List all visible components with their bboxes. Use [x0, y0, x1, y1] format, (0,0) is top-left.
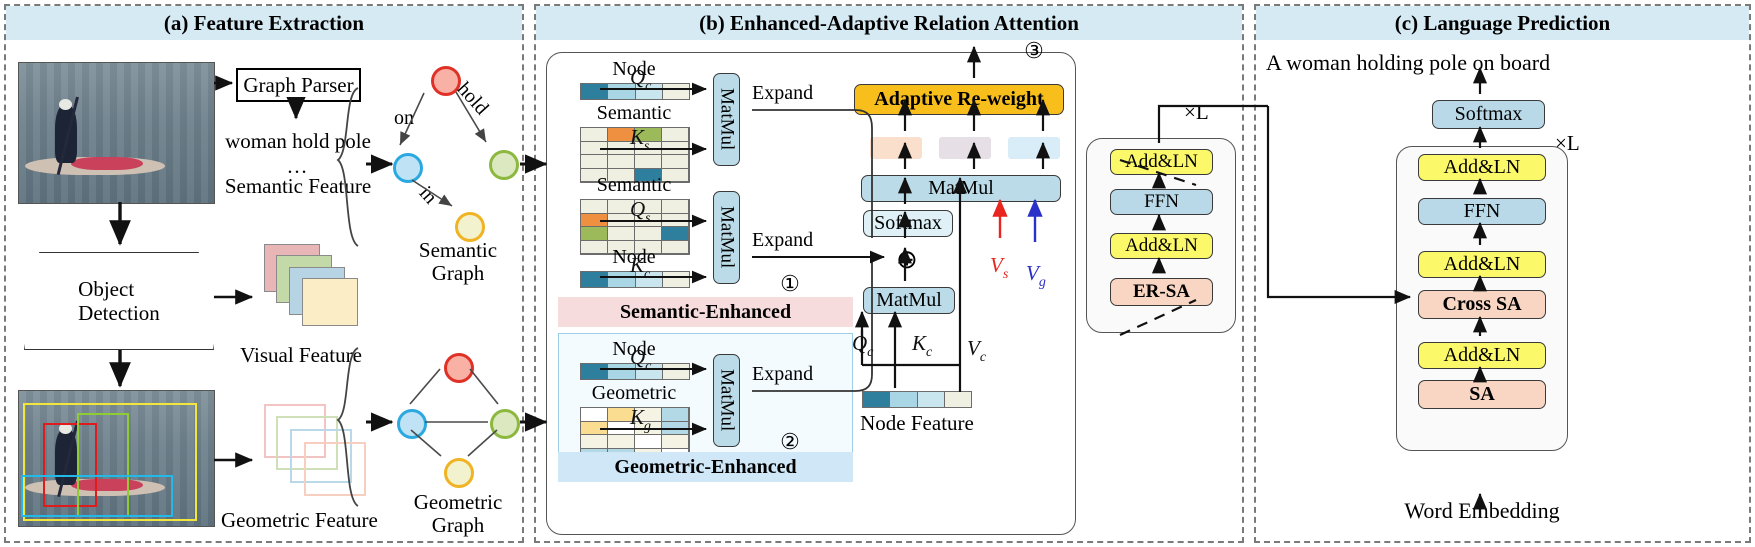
geometric-feature-stack: [264, 404, 382, 504]
geometric-graph-node-green: [490, 409, 520, 439]
graph-parser-label: Graph Parser: [243, 73, 353, 98]
source-image: [18, 62, 215, 204]
matmul-block-3[interactable]: MatMul: [713, 354, 740, 447]
bounding-box-cyan: [21, 475, 173, 517]
plus-operator: ⊕: [896, 245, 918, 275]
visual-feature-card: [302, 278, 358, 326]
graph-parser-box[interactable]: Graph Parser: [236, 68, 361, 102]
node-feature-label: Node Feature: [860, 411, 974, 436]
matmul-block-core[interactable]: MatMul: [863, 287, 955, 314]
parsed-triplet-text: woman hold pole: [225, 129, 371, 154]
paddleboard-deck: [71, 157, 143, 170]
node-label-1: Node: [612, 58, 655, 81]
node-label-2: Node: [612, 246, 655, 269]
geometric-graph-node-yellow: [444, 458, 474, 488]
add-ln-label: Add&LN: [1444, 253, 1521, 276]
object-detection-box[interactable]: Object Detection: [24, 252, 214, 350]
geometric-graph-node-red: [444, 353, 474, 383]
semantic-label-2: Semantic: [597, 174, 671, 197]
geometric-enhanced-label: Geometric-Enhanced: [614, 456, 796, 479]
add-ln-block-b-2[interactable]: Add&LN: [1110, 233, 1213, 259]
cross-sa-label: Cross SA: [1442, 293, 1521, 316]
geometric-graph-label-2: Graph: [432, 513, 484, 538]
matmul-label: MatMul: [716, 369, 738, 431]
add-ln-block-c-3[interactable]: Add&LN: [1418, 342, 1546, 369]
add-ln-label: Add&LN: [1444, 156, 1521, 179]
node-feature-vector: [862, 391, 972, 408]
ffn-block-b[interactable]: FFN: [1110, 189, 1213, 215]
object-detection-label-1: Object: [78, 277, 160, 301]
geometric-label: Geometric: [592, 382, 676, 405]
matmul-label: MatMul: [876, 289, 942, 312]
panel-language-prediction: (c) Language Prediction A woman holding …: [1254, 4, 1751, 543]
ffn-label: FFN: [1144, 191, 1179, 213]
softmax-label: Softmax: [874, 212, 942, 235]
semantic-graph-label-1: Semantic: [419, 238, 497, 263]
panel-b-title: (b) Enhanced-Adaptive Relation Attention: [536, 6, 1242, 40]
semantic-edge-in-label: in: [414, 182, 442, 209]
geometric-graph-node-blue: [397, 409, 427, 439]
matmul-label: MatMul: [928, 177, 994, 200]
marker-three: ③: [1023, 40, 1045, 62]
predicted-caption: A woman holding pole on board: [1266, 50, 1550, 76]
add-ln-block-c-1[interactable]: Add&LN: [1418, 154, 1546, 181]
semantic-graph-label-2: Graph: [432, 261, 484, 286]
panel-c-title: (c) Language Prediction: [1256, 6, 1749, 40]
semantic-label-1: Semantic: [597, 102, 671, 125]
add-ln-label: Add&LN: [1444, 344, 1521, 367]
node-vector-3: [580, 363, 690, 380]
geometric-feature-card: [304, 442, 366, 496]
cross-sa-block[interactable]: Cross SA: [1418, 290, 1546, 319]
output-slot-1: [870, 137, 922, 159]
matmul-block-2[interactable]: MatMul: [713, 191, 740, 284]
sa-block[interactable]: SA: [1418, 380, 1546, 409]
water-background: [19, 63, 214, 203]
er-sa-label: ER-SA: [1133, 281, 1190, 303]
softmax-block-c[interactable]: Softmax: [1432, 100, 1545, 129]
output-slot-3: [1008, 137, 1060, 159]
adaptive-reweight-label: Adaptive Re-weight: [874, 88, 1043, 111]
adaptive-reweight-block[interactable]: Adaptive Re-weight: [854, 84, 1064, 115]
marker-two: ②: [779, 431, 801, 453]
visual-feature-label: Visual Feature: [240, 343, 362, 368]
geometric-feature-label: Geometric Feature: [221, 508, 378, 533]
softmax-block[interactable]: Softmax: [863, 210, 953, 237]
helmet: [59, 99, 72, 110]
sa-label: SA: [1469, 383, 1495, 406]
visual-feature-stack: [264, 244, 374, 334]
semantic-edge-on-label: on: [394, 107, 414, 130]
expand-label-3: Expand: [752, 363, 813, 386]
semantic-enhanced-band: Semantic-Enhanced: [558, 297, 853, 327]
semantic-feature-label: Semantic Feature: [225, 174, 371, 199]
word-embedding-label: Word Embedding: [1404, 498, 1559, 524]
matmul-label: MatMul: [716, 88, 738, 150]
times-l-label-b: ×L: [1184, 100, 1209, 125]
softmax-label: Softmax: [1455, 103, 1523, 126]
node-vector-1: [580, 83, 690, 100]
object-detection-label-2: Detection: [78, 301, 160, 325]
semantic-graph-node-green: [489, 150, 519, 180]
matmul-block-attention[interactable]: MatMul: [861, 175, 1061, 202]
detected-objects-image: [18, 390, 215, 527]
ffn-block-c[interactable]: FFN: [1418, 198, 1546, 225]
ffn-label: FFN: [1464, 200, 1501, 223]
expand-label-1: Expand: [752, 82, 813, 105]
geometric-enhanced-band: Geometric-Enhanced: [558, 452, 853, 482]
output-slot-2: [939, 137, 991, 159]
er-sa-block[interactable]: ER-SA: [1110, 278, 1213, 306]
panel-a-title: (a) Feature Extraction: [6, 6, 522, 40]
geometric-graph-label-1: Geometric: [414, 490, 503, 515]
panel-feature-extraction: (a) Feature Extraction Graph Parser woma…: [4, 4, 524, 543]
semantic-graph-node-blue: [393, 153, 423, 183]
matmul-label: MatMul: [716, 206, 738, 268]
add-ln-block-c-2[interactable]: Add&LN: [1418, 251, 1546, 278]
add-ln-label: Add&LN: [1125, 151, 1198, 173]
node-label-3: Node: [612, 338, 655, 361]
marker-one: ①: [779, 273, 801, 295]
add-ln-block-b-1[interactable]: Add&LN: [1110, 149, 1213, 175]
matmul-block-1[interactable]: MatMul: [713, 73, 740, 166]
semantic-enhanced-label: Semantic-Enhanced: [620, 301, 791, 324]
expand-label-2: Expand: [752, 229, 813, 252]
add-ln-label: Add&LN: [1125, 235, 1198, 257]
panel-relation-attention: (b) Enhanced-Adaptive Relation Attention…: [534, 4, 1244, 543]
node-vector-2: [580, 271, 690, 288]
